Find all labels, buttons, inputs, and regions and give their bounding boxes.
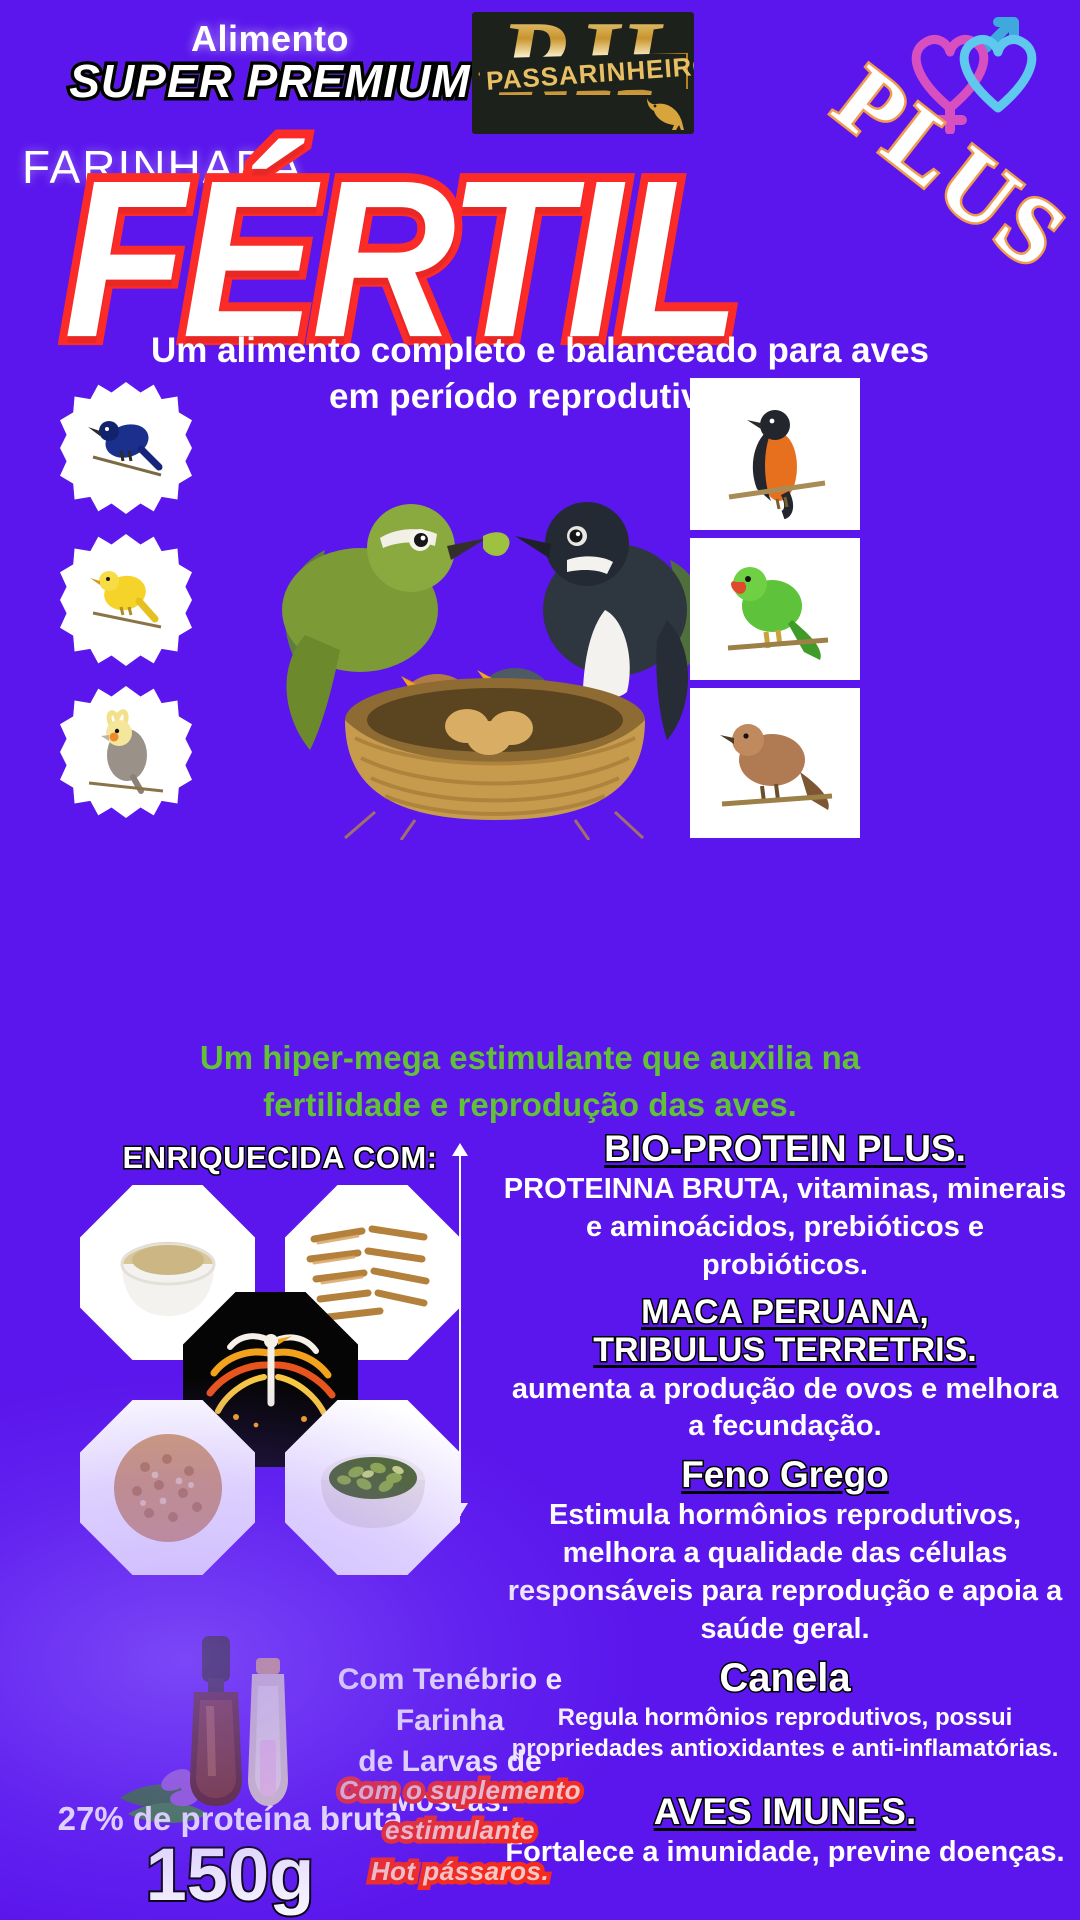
pumpkin-seeds-photo: [285, 1400, 460, 1575]
bird-icon: [644, 92, 688, 132]
ingredient-block: Feno Grego Estimula hormônios reprodutiv…: [495, 1454, 1075, 1656]
bird-illustration: [700, 694, 850, 832]
arrow-up-icon: [452, 1143, 468, 1156]
super-premium-text: SUPER PREMIUM SUPER PREMIUM: [0, 54, 540, 108]
subtitle-line-2: em período reprodutivos.: [70, 374, 1010, 420]
seeds-bowl-illustration: [298, 1428, 448, 1548]
grains-illustration: [93, 1423, 243, 1553]
green-tagline-line-1: Um hiper-mega estimulante que auxilia na: [100, 1035, 960, 1082]
calopsita-bird-photo: [60, 686, 192, 818]
ingredient-title: MACA PERUANA,: [495, 1293, 1075, 1331]
supplement-stamp: Com o suplemento estimulante Hot pássaro…: [330, 1770, 590, 1891]
stamp-line-2: estimulante: [330, 1810, 590, 1850]
brand-logo: RH PASSARINHEIRO: [472, 12, 694, 134]
parrot-illustration: [700, 544, 850, 674]
bird-illustration: [83, 405, 169, 491]
periquito-bird-photo: [690, 538, 860, 680]
ingredient-body: aumenta a produção de ovos e melhora a f…: [495, 1369, 1075, 1454]
product-subtitle: Um alimento completo e balanceado para a…: [70, 328, 1010, 420]
ingredient-body: Estimula hormônios reprodutivos, melhora…: [495, 1495, 1075, 1656]
subtitle-line-1: Um alimento completo e balanceado para a…: [70, 328, 1010, 374]
stamp-line-1: Com o suplemento: [330, 1770, 590, 1810]
ingredient-block: MACA PERUANA, TRIBULUS TERRETRIS. aument…: [495, 1293, 1075, 1455]
ingredient-body: PROTEINNA BRUTA, vitaminas, minerais e a…: [495, 1169, 1075, 1292]
stamp-line-3: Hot pássaros.: [330, 1851, 590, 1891]
enriched-heading: ENRIQUECIDA COM:: [60, 1140, 500, 1176]
tico-tico-bird-photo: [690, 688, 860, 838]
section-divider-line: [459, 1150, 461, 1516]
ingredient-block: BIO-PROTEIN PLUS. PROTEINNA BRUTA, vitam…: [495, 1128, 1075, 1293]
product-label-poster: Alimento SUPER PREMIUM SUPER PREMIUM RH …: [0, 0, 1080, 1920]
ingredient-title: Feno Grego: [495, 1454, 1075, 1495]
super-premium-text-fill: SUPER PREMIUM: [0, 54, 540, 108]
ingredient-title-second-line: TRIBULUS TERRETRIS.: [495, 1331, 1075, 1369]
azulao-bird-photo: [60, 382, 192, 514]
green-tagline-line-2: fertilidade e reprodução das aves.: [100, 1082, 960, 1129]
canario-bird-photo: [60, 534, 192, 666]
arrow-down-icon: [452, 1503, 468, 1516]
bird-illustration: [705, 389, 845, 519]
bird-illustration: [83, 557, 169, 643]
green-tagline: Um hiper-mega estimulante que auxilia na…: [100, 1035, 960, 1129]
ingredient-title: BIO-PROTEIN PLUS.: [495, 1128, 1075, 1169]
ground-grains-photo: [80, 1400, 255, 1575]
sabia-bird-photo: [690, 378, 860, 530]
bird-illustration: [81, 707, 171, 797]
tenebrio-line-1: Com Tenébrio e Farinha: [300, 1660, 600, 1742]
